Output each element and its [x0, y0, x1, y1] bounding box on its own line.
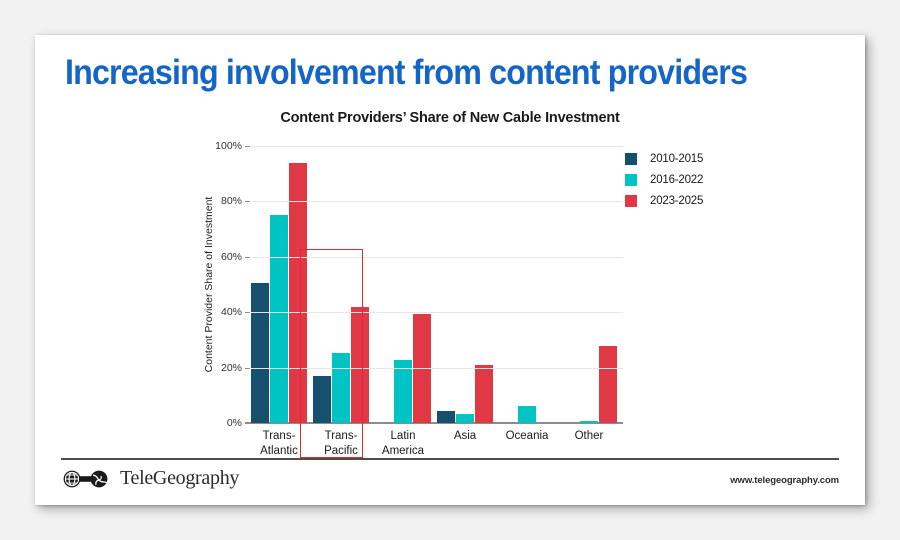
bar [313, 376, 331, 423]
gridline [251, 201, 623, 202]
brand-logo: TeleGeography [63, 467, 239, 490]
y-tick-label: 80% [221, 195, 242, 207]
bar [456, 414, 474, 423]
gridline [251, 312, 623, 313]
x-axis-category-label: Oceania [495, 429, 559, 444]
x-axis-category-label: Latin America [371, 429, 435, 459]
y-tick-mark [245, 368, 250, 369]
bar-group: Oceania [499, 146, 561, 423]
x-axis-category-label: Asia [433, 429, 497, 444]
x-axis-category-label: Trans- Atlantic [247, 429, 311, 459]
bar [518, 406, 536, 423]
brand-name: TeleGeography [120, 467, 239, 490]
y-tick-mark [245, 423, 250, 424]
y-tick-mark [245, 312, 250, 313]
x-axis-category-label: Trans- Pacific [309, 429, 373, 459]
bar-group: Trans- Atlantic [251, 146, 313, 423]
screenshot-root: Increasing involvement from content prov… [0, 0, 900, 540]
y-axis-title: Content Provider Share of Investment [201, 146, 217, 423]
plot-area: Trans- AtlanticTrans- PacificLatin Ameri… [251, 146, 623, 423]
bar [251, 283, 269, 423]
bar [580, 421, 598, 423]
bar-group: Other [561, 146, 623, 423]
legend-swatch [625, 174, 637, 186]
bar-group: Asia [437, 146, 499, 423]
bar [599, 346, 617, 423]
bar-chart: Content Provider Share of Investment Tra… [35, 35, 865, 505]
y-tick-label: 0% [227, 417, 242, 429]
footer-divider [61, 458, 839, 460]
y-tick-label: 60% [221, 251, 242, 263]
legend-label: 2023-2025 [650, 195, 703, 207]
brand-url: www.telegeography.com [730, 475, 839, 486]
bar-group: Latin America [375, 146, 437, 423]
bar [351, 307, 369, 423]
bar [475, 365, 493, 423]
legend-swatch [625, 153, 637, 165]
bar [394, 360, 412, 423]
telegeography-globe-logo-icon [63, 469, 113, 489]
x-axis-category-label: Other [557, 429, 621, 444]
slide-card: Increasing involvement from content prov… [35, 35, 865, 505]
gridline [251, 368, 623, 369]
legend-item: 2023-2025 [625, 190, 703, 211]
bar [437, 411, 455, 423]
legend-item: 2010-2015 [625, 148, 703, 169]
legend-label: 2010-2015 [650, 153, 703, 165]
legend-item: 2016-2022 [625, 169, 703, 190]
y-tick-label: 40% [221, 306, 242, 318]
bar [270, 215, 288, 423]
chart-legend: 2010-20152016-20222023-2025 [625, 148, 703, 211]
bar [332, 353, 350, 423]
legend-label: 2016-2022 [650, 174, 703, 186]
legend-swatch [625, 195, 637, 207]
y-tick-mark [245, 201, 250, 202]
bar-groups: Trans- AtlanticTrans- PacificLatin Ameri… [251, 146, 623, 423]
gridline [251, 257, 623, 258]
y-tick-label: 20% [221, 362, 242, 374]
y-tick-label: 100% [215, 140, 242, 152]
y-tick-mark [245, 146, 250, 147]
y-tick-mark [245, 257, 250, 258]
bar-group: Trans- Pacific [313, 146, 375, 423]
gridline [251, 146, 623, 147]
